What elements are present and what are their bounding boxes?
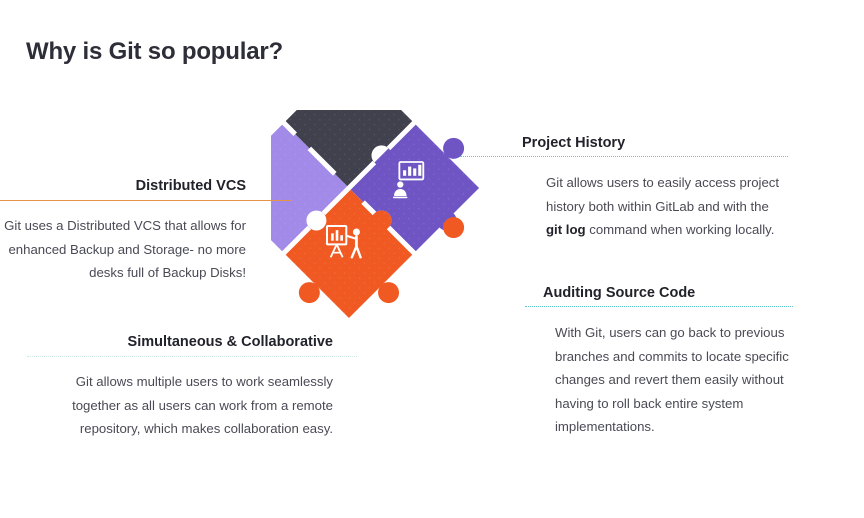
callout-heading-simultaneous-collaborative: Simultaneous & Collaborative	[27, 334, 333, 351]
callout-auditing-source-code: Auditing Source Code With Git, users can…	[543, 285, 793, 439]
connector-line-auditing-source-code	[525, 306, 793, 307]
globe-sync-arrows-icon	[394, 309, 432, 331]
body-text-code: git log	[546, 222, 586, 237]
callout-body-auditing-source-code: With Git, users can go back to previous …	[543, 321, 793, 439]
callout-distributed-vcs: Distributed VCS Git uses a Distributed V…	[0, 178, 246, 285]
callout-heading-distributed-vcs: Distributed VCS	[0, 178, 246, 195]
connector-line-distributed-vcs	[0, 200, 292, 201]
slide-canvas: Why is Git so popular?	[0, 0, 864, 518]
body-text-after: command when working locally.	[586, 222, 775, 237]
body-text-before: Git allows users to easily access projec…	[546, 175, 779, 214]
callout-heading-auditing-source-code: Auditing Source Code	[543, 285, 793, 302]
connector-line-simultaneous-collaborative	[27, 356, 357, 357]
callout-body-project-history: Git allows users to easily access projec…	[520, 171, 788, 242]
connector-line-project-history	[460, 156, 788, 157]
callout-body-distributed-vcs: Git uses a Distributed VCS that allows f…	[0, 214, 246, 285]
callout-heading-project-history: Project History	[520, 135, 788, 152]
page-title: Why is Git so popular?	[26, 38, 283, 66]
callout-project-history: Project History Git allows users to easi…	[520, 135, 788, 242]
person-target-arrow-icon	[461, 232, 496, 256]
callout-simultaneous-collaborative: Simultaneous & Collaborative Git allows …	[27, 334, 333, 441]
callout-body-simultaneous-collaborative: Git allows multiple users to work seamle…	[27, 370, 333, 441]
